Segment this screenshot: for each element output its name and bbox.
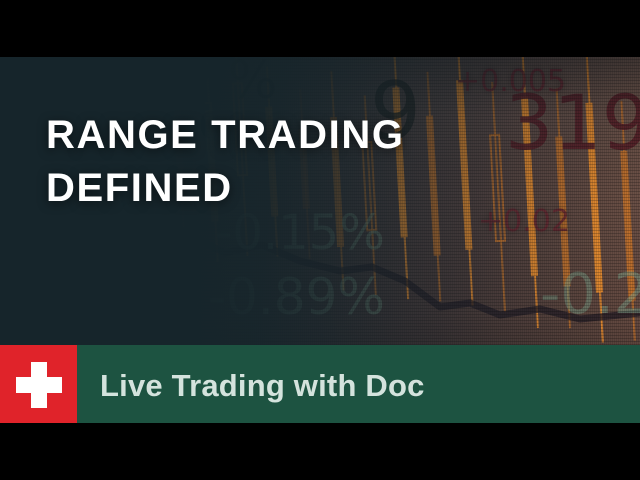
video-thumbnail: 2 % 9 +0.005 319 +0.02 -0.15% -0.89% -0.… xyxy=(0,0,640,480)
video-frame: 2 % 9 +0.005 319 +0.02 -0.15% -0.89% -0.… xyxy=(0,57,640,423)
screen-number: -0.2 xyxy=(540,267,640,323)
screen-number: -0.15% xyxy=(215,209,385,257)
screen-number: -0.89% xyxy=(208,272,385,322)
headline-line-2: DEFINED xyxy=(46,162,405,215)
screen-number: +0.02 xyxy=(478,207,570,237)
screen-number: % xyxy=(228,57,277,107)
channel-name-strip: Live Trading with Doc xyxy=(77,345,640,423)
channel-name-label: Live Trading with Doc xyxy=(100,370,425,401)
headline-line-1: RANGE TRADING xyxy=(46,109,405,162)
brand-bar: Live Trading with Doc xyxy=(0,345,640,423)
page-title: RANGE TRADING DEFINED xyxy=(46,109,405,215)
letterbox-bottom xyxy=(0,423,640,480)
letterbox-top xyxy=(0,0,640,57)
swiss-flag-icon xyxy=(0,345,77,423)
screen-number: 319 xyxy=(505,85,640,161)
flag-cross-horizontal xyxy=(16,377,62,393)
